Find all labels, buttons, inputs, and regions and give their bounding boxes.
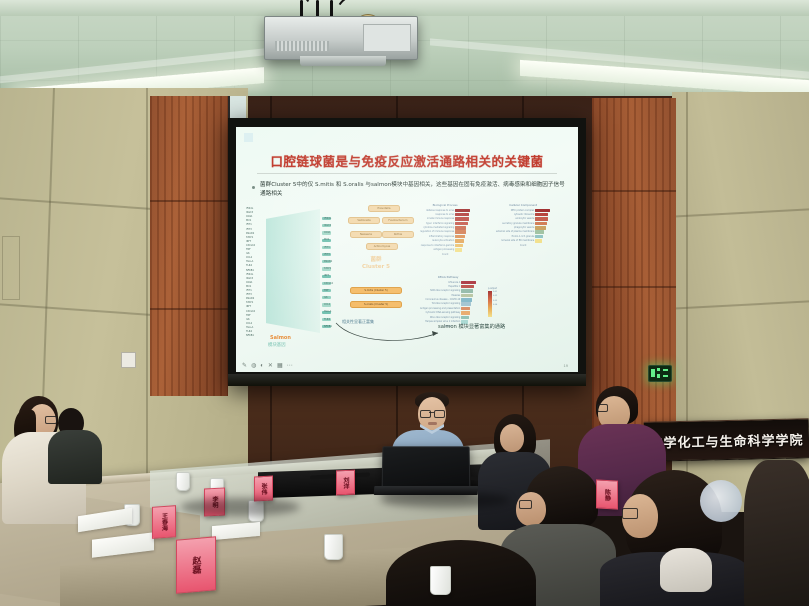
- chart-category-label: defense response to virus: [426, 209, 454, 213]
- figure-network-diagram: IFI44LISG15OAS1MX1IFIT1IFIT3RSAD2STAT1IR…: [246, 203, 342, 339]
- chart-bar: [461, 311, 469, 315]
- network-gene-label: RSAD2: [246, 232, 254, 235]
- chart-category-label: Cytosolic DNA-sensing pathway: [426, 311, 461, 315]
- network-module-label-text: IFIT1: [324, 246, 330, 249]
- projector-body: [264, 16, 418, 60]
- chart-category-label: inflammatory response: [429, 235, 454, 239]
- chart-bars: [461, 281, 476, 324]
- chart-bar: [455, 239, 464, 243]
- network-module-label-text: IFIT3: [324, 253, 330, 256]
- chart-category-label: cytosolic ribosome: [514, 213, 534, 217]
- network-gene-label: OAS1: [246, 281, 253, 284]
- network-gene-label: HLA-A: [246, 260, 253, 263]
- chart-category-label: regulation of immune response: [420, 230, 454, 234]
- figure-legend: p.adjust 0.010.020.030.04: [488, 287, 497, 317]
- chart-category-labels: MHC protein complexcytosolic ribosomeend…: [496, 209, 534, 243]
- network-gene-label: OAS1: [246, 215, 253, 218]
- chart-category-label: leukocyte activation: [432, 239, 454, 243]
- slide-title-underline: [257, 173, 557, 174]
- network-gene-label: MX1: [246, 219, 251, 222]
- chart-bars: [455, 209, 470, 252]
- slide-figure: IFI44LISG15OAS1MX1IFIT1IFIT3RSAD2STAT1IR…: [242, 201, 572, 353]
- chart-category-label: Toll-like receptor signaling: [432, 302, 461, 306]
- name-tent-text: 赵磊: [190, 555, 203, 574]
- projection-screen: 口腔链球菌是与免疫反应激活通路相关的关键菌 菌群Cluster 5中的仅 S.m…: [236, 127, 578, 372]
- glasses-icon: [519, 500, 532, 509]
- chart-category-label: Coronavirus disease - COVID-19: [425, 298, 460, 302]
- name-tent-card[interactable]: 王春海: [152, 505, 176, 539]
- network-module-label-text: IRF7: [324, 274, 329, 277]
- wood-seam: [150, 200, 228, 202]
- figure-taxon-pill: Fusobacterium: [382, 217, 414, 224]
- name-tent-text: 张伟: [259, 482, 268, 494]
- chart-bar: [455, 244, 463, 248]
- figure-cluster-label: 菌群 Cluster 5: [362, 257, 390, 271]
- wall-seam: [146, 88, 148, 488]
- network-gene-label: TNF: [246, 248, 251, 251]
- bullet-dot: [252, 186, 255, 189]
- chart-bar: [461, 281, 476, 285]
- chart-bar: [455, 235, 465, 239]
- attendee-head: [516, 492, 546, 526]
- network-module-label-text: TLR4: [324, 318, 330, 321]
- figure-taxon-pill: Actinomyces: [366, 243, 398, 250]
- wood-seam: [592, 286, 676, 288]
- chart-category-label: ficolin-1-rich granule: [512, 235, 535, 239]
- chart-category-label: Hepatitis C: [448, 285, 460, 289]
- presenter-head: [418, 397, 446, 430]
- chart-bar: [455, 230, 465, 234]
- wall-seam: [672, 300, 809, 309]
- chart-category-label: phagocytic vesicle: [514, 226, 534, 230]
- chart-category-label: innate immune response: [427, 217, 454, 221]
- chart-bar: [455, 217, 468, 221]
- chart-bar: [535, 222, 546, 226]
- slide-toolbar[interactable]: ✎ ◍ ◐ ✕ ▦ ⋯: [242, 362, 293, 369]
- wood-seam: [592, 190, 676, 192]
- figure-taxon-pill: S.oralis (Cluster 5): [350, 301, 402, 308]
- chart-bar: [535, 235, 543, 239]
- figure-taxon-pill: S.mitis (Cluster 5): [350, 287, 402, 294]
- name-tent-text: 王春海: [160, 513, 169, 532]
- projector-mount: [300, 56, 386, 66]
- chart-bar: [535, 217, 547, 221]
- network-module-sublabel: 模块基因: [268, 342, 286, 348]
- network-gene-label: IFI44L: [246, 207, 253, 210]
- chart-bar: [461, 294, 472, 298]
- network-module-label-text: RSAD2: [324, 260, 332, 263]
- chart-category-label: external side of plasma membrane: [496, 230, 534, 234]
- chart-category-label: secretory granule membrane: [502, 222, 534, 226]
- glasses-icon: [622, 508, 638, 519]
- slide-corner-mark: [244, 133, 253, 142]
- attendee-scarf: [660, 548, 712, 592]
- slide-page-number: 19: [564, 363, 568, 368]
- chart-category-label: MHC protein complex: [511, 209, 535, 213]
- chart-category-label: cytokine-mediated signaling: [423, 226, 454, 230]
- chart-bar: [535, 209, 550, 213]
- network-module-label-text: STAT1: [324, 267, 331, 270]
- network-gene-label: TLR4: [246, 330, 252, 333]
- eraser-icon[interactable]: ◐: [260, 363, 264, 369]
- wall-recess: [2, 236, 20, 300]
- network-gene-label: NFKB1: [246, 334, 254, 337]
- glasses-icon: [597, 404, 608, 412]
- figure-taxon-pill: Rothia: [382, 231, 414, 238]
- network-gene-label: HLA-A: [246, 326, 253, 329]
- glasses-icon: [45, 416, 57, 424]
- department-banner: 化学化工与生命科学学院: [644, 418, 809, 461]
- network-module-label-text: ISG15: [324, 224, 331, 227]
- chart-bar: [461, 302, 471, 306]
- figure-barchart-kegg: KEGG PathwayInfluenza AHepatitis CNOD-li…: [420, 275, 476, 328]
- chart-category-label: antigen processing: [433, 248, 454, 252]
- network-module-label-text: IFI44L: [324, 217, 331, 220]
- network-gene-label: IFIT1: [246, 223, 252, 226]
- chart-bar: [461, 307, 470, 311]
- ceiling-slab: [0, 0, 809, 16]
- more-icon[interactable]: ⋯: [287, 362, 293, 369]
- figure-arrow-note: 相关性显著正富集: [342, 319, 374, 325]
- wood-seam: [150, 308, 228, 310]
- network-gene-label: CXCL10: [246, 310, 255, 313]
- chart-bar: [461, 316, 469, 320]
- chart-bar: [455, 226, 466, 230]
- chart-bar: [535, 226, 545, 230]
- network-gene-label: CXCL10: [246, 244, 255, 247]
- presentation-slide: 口腔链球菌是与免疫反应激活通路相关的关键菌 菌群Cluster 5中的仅 S.m…: [236, 127, 578, 372]
- grid-icon[interactable]: ▦: [277, 362, 283, 369]
- figure-barchart-bp: Biological Processdefense response to vi…: [420, 203, 470, 256]
- chart-bar: [535, 213, 548, 217]
- network-gene-label: CCL2: [246, 256, 252, 259]
- chart-category-label: type I interferon signaling: [426, 222, 454, 226]
- name-tent-text: 陈静: [603, 488, 612, 500]
- chart-category-label: Measles: [452, 294, 461, 298]
- network-module-label-text: HLA-A: [324, 310, 331, 313]
- network-module-label-text: TNF: [324, 289, 329, 292]
- attendee-cap: [700, 480, 742, 522]
- attendee-head: [500, 424, 524, 452]
- figure-salmon-note: salmon 模块显著富集的通路: [438, 323, 505, 330]
- projector-label-panel: [363, 24, 411, 52]
- chart-axis-label: Count: [496, 244, 550, 247]
- glasses-icon: [434, 410, 445, 418]
- name-tent-text: 刘洋: [341, 476, 350, 488]
- highlighter-icon[interactable]: ◍: [251, 362, 256, 369]
- network-gene-label: TLR4: [246, 264, 252, 267]
- network-gene-label: STAT1: [246, 236, 253, 239]
- network-gene-label: IL6: [246, 318, 250, 321]
- network-gene-label: RSAD2: [246, 297, 254, 300]
- paper-cup[interactable]: [430, 566, 451, 595]
- network-module-label: Salmon: [270, 335, 291, 341]
- network-gene-label: TNF: [246, 314, 251, 317]
- network-gene-label: IFIT3: [246, 293, 252, 296]
- network-gene-label: NFKB1: [246, 269, 254, 272]
- chart-category-label: lumenal side of ER membrane: [501, 239, 534, 243]
- attendee-torso: [48, 430, 102, 484]
- pen-icon[interactable]: ✎: [242, 362, 247, 369]
- figure-taxon-pill: Prevotella: [368, 205, 400, 212]
- chart-category-label: response to virus: [435, 213, 454, 217]
- close-icon[interactable]: ✕: [268, 362, 273, 369]
- chart-bar: [455, 248, 462, 252]
- paper-cup[interactable]: [324, 534, 343, 560]
- wood-grain: [150, 96, 228, 396]
- slide-bullet-item: 菌群Cluster 5中的仅 S.mitis 和 S.oralis 与salmo…: [252, 181, 566, 198]
- chart-bars: [535, 209, 550, 243]
- attendee-torso: [744, 460, 809, 606]
- chart-bar: [535, 239, 542, 243]
- network-module-label-text: CCL2: [324, 303, 330, 306]
- chart-bar: [455, 213, 469, 217]
- chart-title: KEGG Pathway: [420, 275, 476, 279]
- paper-cup[interactable]: [176, 472, 190, 491]
- chart-axis-label: Count: [420, 253, 470, 256]
- name-tent-card[interactable]: 赵磊: [176, 536, 216, 593]
- network-gene-label: ISG15: [246, 211, 253, 214]
- network-gene-label: IRF7: [246, 240, 251, 243]
- chart-bar: [535, 230, 544, 234]
- chart-category-label: response to interferon-gamma: [421, 244, 454, 248]
- chart-category-label: Antigen processing and presentation: [420, 307, 460, 311]
- network-gene-label: IFIT1: [246, 289, 252, 292]
- chart-category-label: RIG-I-like receptor signaling: [430, 316, 460, 320]
- network-module-label-text: IL6: [324, 296, 328, 299]
- chart-bar: [455, 222, 468, 226]
- name-tent-card[interactable]: 陈静: [596, 479, 618, 509]
- network-module-label-text: OAS1: [324, 231, 331, 234]
- network-gene-label: STAT1: [246, 301, 253, 304]
- network-gene-label: IFI44L: [246, 273, 253, 276]
- name-tent-card[interactable]: 刘洋: [336, 470, 355, 496]
- legend-colorbar: [488, 291, 492, 317]
- chart-title: Biological Process: [420, 203, 470, 207]
- network-edge-bundle: [266, 209, 320, 333]
- network-gene-label: MX1: [246, 285, 251, 288]
- conference-room-photo: 化学化工与生命科学学院 口腔链球菌是与免疫反应激活通路相关的关键菌 菌群Clus…: [0, 0, 809, 606]
- projector-vent: [275, 41, 329, 51]
- chart-title: Cellular Component: [496, 203, 550, 207]
- network-gene-label: IFIT3: [246, 228, 252, 231]
- network-gene-label: IL6: [246, 252, 250, 255]
- banner-text: 化学化工与生命科学学院: [649, 429, 803, 451]
- network-module-label-text: MX1: [324, 238, 329, 241]
- emergency-exit-sign: [648, 365, 672, 382]
- chart-bar: [461, 298, 472, 302]
- network-gene-label: ISG15: [246, 277, 253, 280]
- light-switch[interactable]: [121, 352, 136, 368]
- wood-column-left: [150, 96, 228, 396]
- network-module-label-text: NFKB1: [324, 325, 332, 328]
- figure-barchart-cc: Cellular ComponentMHC protein complexcyt…: [496, 203, 550, 247]
- slide-title: 口腔链球菌是与免疫反应激活通路相关的关键菌: [244, 151, 570, 170]
- legend-tick-labels: 0.010.020.030.04: [493, 290, 497, 308]
- network-gene-label: CCL2: [246, 322, 252, 325]
- chart-category-labels: defense response to virusresponse to vir…: [420, 209, 454, 252]
- chart-category-label: NOD-like receptor signaling: [430, 289, 460, 293]
- chart-bar: [455, 209, 470, 213]
- network-gene-label: IRF7: [246, 305, 251, 308]
- wall-seam: [672, 208, 809, 217]
- chart-bar: [461, 285, 474, 289]
- chart-category-labels: Influenza AHepatitis CNOD-like receptor …: [420, 281, 460, 324]
- figure-taxon-pill: Veillonella: [348, 217, 380, 224]
- slide-bullet-text: 菌群Cluster 5中的仅 S.mitis 和 S.oralis 与salmo…: [260, 181, 566, 198]
- chart-bar: [461, 289, 473, 293]
- legend-tick: 0.04: [493, 303, 497, 307]
- chart-category-label: endocytic vesicle: [515, 217, 534, 221]
- network-module-label-text: CXCL10: [324, 282, 333, 285]
- figure-taxon-pill: Neisseria: [350, 231, 382, 238]
- screen-bottom-bar: [228, 374, 586, 386]
- chart-category-label: Influenza A: [448, 281, 460, 285]
